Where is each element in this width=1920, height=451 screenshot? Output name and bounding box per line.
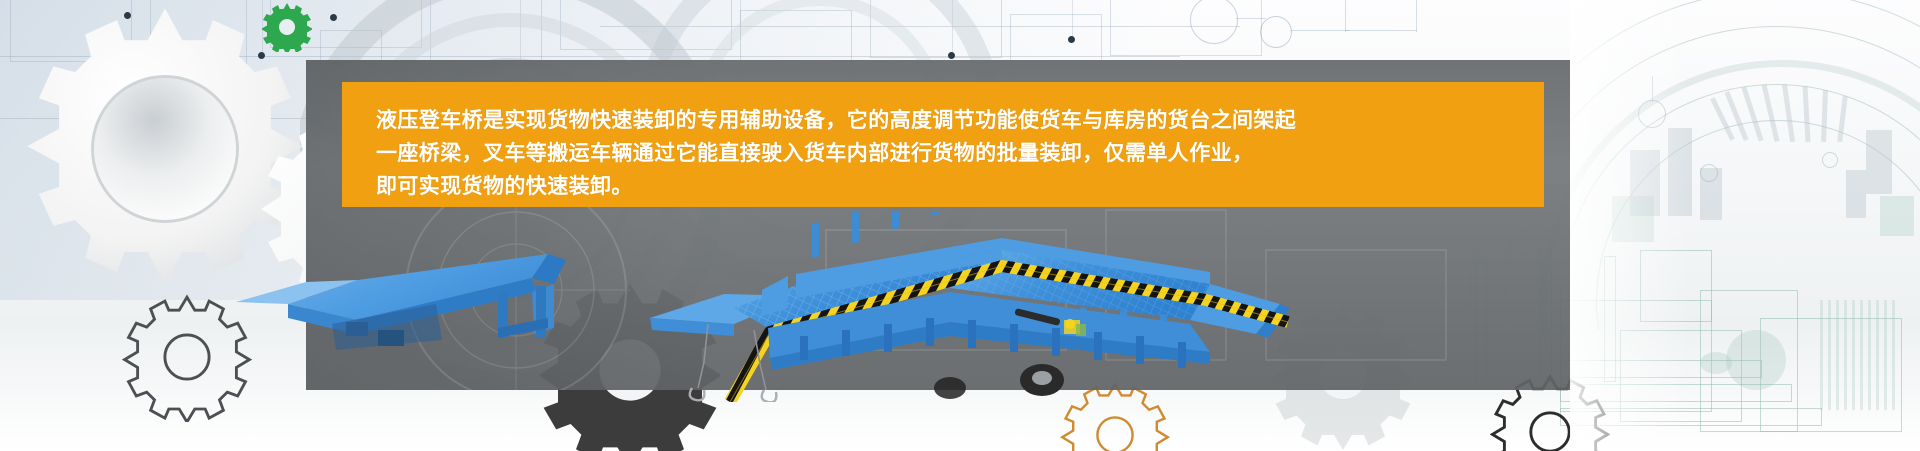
callout-box: 液压登车桥是实现货物快速装卸的专用辅助设备，它的高度调节功能使货车与库房的货台之… (342, 82, 1544, 207)
comb-bars-right (1820, 300, 1916, 410)
stationary-dock-leveler-image (236, 200, 596, 350)
gear-small-green-icon (262, 2, 312, 52)
right-fade-overlay (1570, 0, 1690, 451)
mobile-yard-ramp-image (650, 212, 1290, 402)
callout-text: 液压登车桥是实现货物快速装卸的专用辅助设备，它的高度调节功能使货车与库房的货台之… (376, 104, 1510, 203)
banner-stage: 液压登车桥是实现货物快速装卸的专用辅助设备，它的高度调节功能使货车与库房的货台之… (0, 0, 1920, 451)
gear-outline-bottom-left-icon (122, 292, 252, 422)
